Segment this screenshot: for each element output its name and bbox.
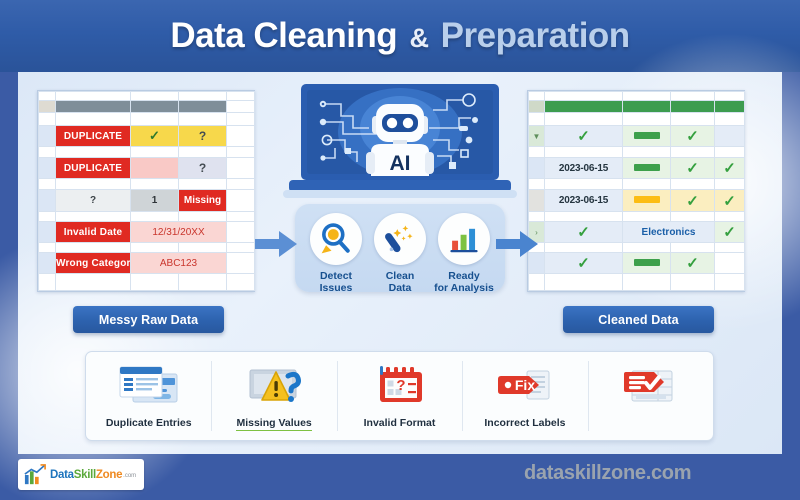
cell: [623, 113, 671, 126]
cell: [529, 179, 545, 190]
logo-text-skill: Skill: [74, 469, 96, 481]
flagged-cell: ✓: [131, 126, 179, 147]
cell: [39, 179, 56, 190]
svg-text:Fix: Fix: [515, 377, 535, 393]
table-row: Wrong Category ABC123: [39, 253, 255, 274]
header-bar-cell: [131, 101, 179, 113]
header-bar-cell: [671, 101, 715, 113]
check-icon: ✓: [577, 224, 590, 241]
cell: [529, 212, 545, 222]
cell: [671, 92, 715, 101]
table-row: 2023-06-15 ✓ ✓: [529, 190, 745, 212]
date-cell: 2023-06-15: [545, 158, 623, 179]
cell: [529, 113, 545, 126]
bar-cell: [623, 190, 671, 212]
clean-label: Clean Data: [369, 270, 431, 294]
check-icon: ✓: [723, 160, 736, 177]
header-banner: Data Cleaning & Preparation: [0, 0, 800, 72]
valid-cell: ✓: [671, 253, 715, 274]
table-row: [529, 113, 745, 126]
logo-text-com: .com: [123, 473, 136, 481]
cell: [56, 147, 131, 158]
cell: [39, 113, 56, 126]
cell: [529, 274, 545, 291]
valid-cell: ✓: [671, 190, 715, 212]
table-row: [529, 179, 745, 190]
bar-cell: [623, 158, 671, 179]
table-row: [39, 179, 255, 190]
table-row: › ✓ Electronics ✓: [529, 222, 745, 243]
magnifier-icon: [318, 221, 354, 257]
cell: [715, 179, 745, 190]
issue-label: Missing Values: [236, 417, 311, 431]
footer-url: dataskillzone.com: [524, 462, 691, 485]
green-bar-icon: [634, 259, 660, 266]
wrong-category-tag: Wrong Category: [56, 253, 131, 274]
check-icon: ✓: [686, 160, 699, 177]
clean-line1: Clean: [386, 270, 415, 282]
cell: [179, 243, 227, 253]
checked-label-icon: [614, 361, 686, 411]
cell: [179, 92, 227, 101]
cleaned-data-table: ▼ ✓ ✓: [528, 91, 745, 291]
cell: [227, 126, 255, 147]
cell: [179, 212, 227, 222]
detect-icon-circle: [310, 213, 362, 265]
question-mark: ?: [199, 129, 206, 143]
table-row: ✓ ✓: [529, 253, 745, 274]
table-row: DUPLICATE ?: [39, 158, 255, 179]
title-part-alt: Preparation: [441, 16, 630, 55]
flagged-cell: [131, 158, 179, 179]
table-row: [39, 274, 255, 291]
clean-icon-circle: [374, 213, 426, 265]
cell: [623, 274, 671, 291]
issue-incorrect-labels[interactable]: Fix Incorrect Labels: [462, 352, 587, 440]
ready-line1: Ready: [448, 270, 480, 282]
check-icon: ✓: [686, 255, 699, 272]
ready-line2: for Analysis: [434, 282, 494, 294]
detect-line2: Issues: [320, 282, 353, 294]
category-cell: Electronics: [623, 222, 715, 243]
cell: [39, 92, 56, 101]
issue-label: Invalid Format: [364, 417, 436, 429]
cell: [56, 274, 131, 291]
chevron-down-icon: ▼: [533, 132, 541, 141]
cell: [671, 274, 715, 291]
cell: [131, 274, 179, 291]
cell: [227, 147, 255, 158]
cell: [39, 274, 56, 291]
issue-label: Incorrect Labels: [484, 417, 565, 429]
table-row: [39, 113, 255, 126]
cell: [56, 212, 131, 222]
cell: [227, 212, 255, 222]
header-bar-cell: [623, 101, 671, 113]
pipeline-step-detect[interactable]: Detect Issues: [305, 213, 367, 294]
issue-duplicate-entries[interactable]: Duplicate Entries: [86, 352, 211, 440]
table-row: ? 1 Missing: [39, 190, 255, 212]
cell: [56, 243, 131, 253]
issue-invalid-format[interactable]: ? Invalid Format: [337, 352, 462, 440]
flagged-cell: ?: [179, 126, 227, 147]
pipeline-step-ready[interactable]: Ready for Analysis: [433, 213, 495, 294]
header-bar-cell: [715, 101, 745, 113]
cell: [131, 113, 179, 126]
check-icon: ✓: [723, 224, 736, 241]
header-bar-cell: [56, 101, 131, 113]
cell: [227, 101, 255, 113]
check-icon: ✓: [723, 193, 736, 210]
cell: [227, 222, 255, 243]
table-row: [529, 147, 745, 158]
laptop-svg: AI: [283, 82, 517, 204]
valid-cell: ✓: [545, 126, 623, 147]
row-header: [39, 158, 56, 179]
cell: [56, 113, 131, 126]
check-icon: ✓: [577, 255, 590, 272]
pipeline-card: Detect Issues: [295, 204, 505, 292]
cell: [623, 92, 671, 101]
messy-data-sheet: DUPLICATE ✓ ?: [37, 90, 255, 292]
cell: [715, 212, 745, 222]
cell: [671, 147, 715, 158]
table-header-row: [39, 101, 255, 113]
table-row: [39, 147, 255, 158]
warning-question-icon: [238, 361, 310, 411]
row-header: [39, 190, 56, 212]
ready-icon-circle: [438, 213, 490, 265]
detect-line1: Detect: [320, 270, 352, 282]
issue-checked-label[interactable]: [588, 352, 713, 440]
check-icon: ✓: [686, 128, 699, 145]
bar-cell: [623, 253, 671, 274]
title-ampersand: &: [406, 23, 431, 53]
cell: [227, 92, 255, 101]
ai-laptop-illustration: AI: [283, 82, 517, 204]
cell: [39, 243, 56, 253]
cell: [715, 253, 745, 274]
cell: [56, 92, 131, 101]
valid-cell: ✓: [545, 222, 623, 243]
cell: [56, 179, 131, 190]
cell: [671, 243, 715, 253]
logo-text-zone: Zone: [96, 469, 122, 481]
cell: [179, 274, 227, 291]
issue-label: Duplicate Entries: [106, 417, 192, 429]
table-row: [529, 243, 745, 253]
row-header: [39, 253, 56, 274]
cell: [227, 243, 255, 253]
wrong-category-value: ABC123: [131, 253, 227, 274]
invalid-date-tag: Invalid Date: [56, 222, 131, 243]
cell: [623, 243, 671, 253]
valid-cell: ✓: [715, 190, 745, 212]
bar-cell: [623, 126, 671, 147]
date-cell: 2023-06-15: [545, 190, 623, 212]
check-icon: ✓: [686, 193, 699, 210]
cell: [131, 212, 179, 222]
arrow-right-icon: [255, 229, 299, 259]
cell: [529, 92, 545, 101]
header-corner: [39, 101, 56, 113]
ready-label: Ready for Analysis: [433, 270, 495, 294]
header-bar-cell: [545, 101, 623, 113]
valid-cell: ✓: [715, 158, 745, 179]
row-header-expand[interactable]: ▼: [529, 126, 545, 147]
cell: [545, 212, 623, 222]
cell: [715, 147, 745, 158]
cell: [227, 113, 255, 126]
table-row: [39, 243, 255, 253]
cell: [545, 274, 623, 291]
messy-data-badge: Messy Raw Data: [73, 306, 224, 333]
cell: [623, 179, 671, 190]
value-cell: 1: [131, 190, 179, 212]
issues-bar: Duplicate Entries Missing Values: [85, 351, 714, 441]
row-header: [39, 126, 56, 147]
arrow-center-to-right: [496, 229, 540, 264]
issue-missing-values[interactable]: Missing Values: [211, 352, 336, 440]
cell: [671, 179, 715, 190]
site-logo[interactable]: Data Skill Zone .com: [18, 459, 144, 490]
messy-data-badge-label: Messy Raw Data: [99, 313, 198, 327]
header-bar-cell: [179, 101, 227, 113]
cell: [131, 92, 179, 101]
cell: [715, 274, 745, 291]
table-row: [529, 92, 745, 101]
check-icon: ✓: [149, 128, 160, 143]
green-bar-icon: [634, 164, 660, 171]
pipeline-steps: Detect Issues: [295, 204, 505, 294]
title-part-main: Data Cleaning: [170, 16, 397, 55]
cell: [179, 179, 227, 190]
cell: [545, 179, 623, 190]
cell: [715, 126, 745, 147]
cell: [131, 179, 179, 190]
question-cell: ?: [56, 190, 131, 212]
valid-cell: ✓: [671, 158, 715, 179]
green-bar-icon: [634, 132, 660, 139]
table-row: [529, 212, 745, 222]
cell: [671, 113, 715, 126]
cell: [227, 158, 255, 179]
missing-tag: Missing: [179, 190, 227, 212]
duplicate-cards-icon: [113, 361, 185, 411]
cell: [715, 92, 745, 101]
table-row: [39, 212, 255, 222]
clean-line2: Data: [389, 282, 412, 294]
cell: [715, 243, 745, 253]
cell: [131, 147, 179, 158]
valid-cell: ✓: [715, 222, 745, 243]
duplicate-tag: DUPLICATE: [56, 126, 131, 147]
question-mark: ?: [199, 161, 206, 175]
duplicate-tag: DUPLICATE: [56, 158, 131, 179]
fix-tag-icon: Fix: [489, 361, 561, 411]
cell: [545, 92, 623, 101]
cell: [671, 212, 715, 222]
cell: [545, 243, 623, 253]
cell: [529, 147, 545, 158]
yellow-bar-icon: [634, 196, 660, 203]
cell: [131, 243, 179, 253]
logo-text-data: Data: [50, 469, 74, 481]
content-stage: DUPLICATE ✓ ?: [18, 72, 782, 454]
cell: [545, 113, 623, 126]
infographic-canvas: Data Cleaning & Preparation: [0, 0, 800, 500]
bar-chart-icon: [447, 222, 481, 256]
header-corner: [529, 101, 545, 113]
cell: [623, 212, 671, 222]
table-row: DUPLICATE ✓ ?: [39, 126, 255, 147]
cell: [39, 212, 56, 222]
table-row: [529, 274, 745, 291]
invalid-date-value: 12/31/20XX: [131, 222, 227, 243]
row-header: [39, 222, 56, 243]
table-row: Invalid Date 12/31/20XX: [39, 222, 255, 243]
cell: [179, 113, 227, 126]
cleaned-data-badge-label: Cleaned Data: [598, 313, 678, 327]
cell: [227, 190, 255, 212]
cell: [227, 253, 255, 274]
table-row: ▼ ✓ ✓: [529, 126, 745, 147]
table-row: [39, 92, 255, 101]
check-icon: ✓: [577, 128, 590, 145]
cell: [227, 179, 255, 190]
magic-wand-icon: [382, 221, 418, 257]
cell: [39, 147, 56, 158]
cell: [227, 274, 255, 291]
cell: [179, 147, 227, 158]
cell: [623, 147, 671, 158]
cell: [545, 147, 623, 158]
messy-data-table: DUPLICATE ✓ ?: [38, 91, 255, 291]
table-row: 2023-06-15 ✓ ✓: [529, 158, 745, 179]
flagged-cell: ?: [179, 158, 227, 179]
arrow-left-to-center: [255, 229, 299, 264]
table-header-row: [529, 101, 745, 113]
valid-cell: ✓: [545, 253, 623, 274]
calendar-question-icon: ?: [364, 361, 436, 411]
chart-logo-icon: [23, 464, 47, 486]
cleaned-data-sheet: ▼ ✓ ✓: [527, 90, 745, 292]
detect-label: Detect Issues: [305, 270, 367, 294]
page-title: Data Cleaning & Preparation: [170, 16, 629, 56]
cleaned-data-badge: Cleaned Data: [563, 306, 714, 333]
ai-label: AI: [390, 152, 411, 175]
arrow-right-icon: [496, 229, 540, 259]
cell: [715, 113, 745, 126]
pipeline-step-clean[interactable]: Clean Data: [369, 213, 431, 294]
row-header: [529, 158, 545, 179]
valid-cell: ✓: [671, 126, 715, 147]
row-header: [529, 190, 545, 212]
svg-text:?: ?: [396, 377, 405, 394]
